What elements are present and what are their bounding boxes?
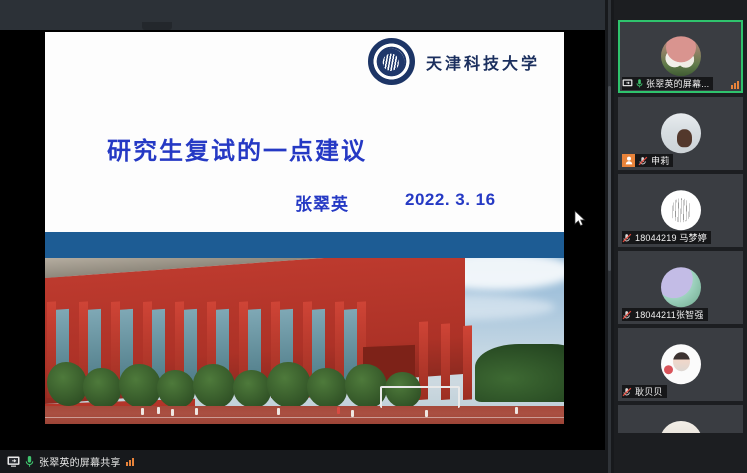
- avatar: [661, 267, 701, 307]
- microphone-muted-icon: [638, 156, 648, 166]
- university-name: 天津科技大学: [426, 50, 540, 74]
- screen-share-icon: [7, 456, 20, 467]
- mouse-cursor-icon: [574, 210, 586, 227]
- avatar: [661, 190, 701, 230]
- nameplate: 18044211张智强: [622, 308, 708, 321]
- participant-name: 耿贝贝: [635, 385, 663, 398]
- screen-share-viewport[interactable]: 天津科技大学 研究生复试的一点建议 张翠英 2022. 3. 16: [0, 0, 609, 473]
- nameplate: 18044219 马梦婷: [622, 231, 711, 244]
- microphone-muted-icon: [622, 387, 632, 397]
- avatar: [660, 421, 702, 433]
- microphone-muted-icon: [622, 310, 632, 320]
- nameplate: 耿贝贝: [622, 385, 667, 398]
- presentation-slide: 天津科技大学 研究生复试的一点建议 张翠英 2022. 3. 16: [45, 32, 564, 424]
- participants-scrollbar-thumb[interactable]: [608, 86, 611, 271]
- microphone-icon[interactable]: [25, 455, 34, 468]
- avatar: [661, 113, 701, 153]
- participant-tile-zhangcuiying[interactable]: 张翠英的屏幕...: [618, 20, 743, 93]
- chrome-notch: [142, 22, 172, 30]
- participant-name: 张翠英的屏幕...: [646, 77, 709, 90]
- tust-seal-icon: [368, 38, 415, 85]
- participant-name: 18044211张智强: [635, 308, 704, 321]
- share-status-label: 张翠英的屏幕共享: [39, 454, 121, 469]
- participant-tile-zhangzhiqiang[interactable]: 18044211张智强: [618, 251, 743, 324]
- slide-title: 研究生复试的一点建议: [107, 131, 367, 166]
- avatar: [661, 344, 701, 384]
- nameplate: 申莉: [622, 154, 673, 167]
- participant-name: 申莉: [651, 154, 669, 167]
- participant-tile-gengbeibei[interactable]: 耿贝贝: [618, 328, 743, 401]
- participant-strip[interactable]: 张翠英的屏幕... 申莉: [614, 0, 747, 473]
- share-status-bar[interactable]: 张翠英的屏幕共享: [0, 450, 609, 473]
- screen-share-icon: [622, 79, 633, 88]
- participant-tile-shenli[interactable]: 申莉: [618, 97, 743, 170]
- university-logo-row: 天津科技大学: [368, 38, 540, 85]
- conference-window: 天津科技大学 研究生复试的一点建议 张翠英 2022. 3. 16: [0, 0, 747, 473]
- host-badge-icon: [622, 154, 635, 167]
- microphone-icon: [636, 78, 643, 89]
- signal-bars-icon: [126, 458, 134, 466]
- slide-date: 2022. 3. 16: [405, 190, 496, 210]
- participant-tile-mamengting[interactable]: 18044219 马梦婷: [618, 174, 743, 247]
- slide-accent-band: [45, 232, 564, 258]
- participant-tile-partial[interactable]: [618, 405, 743, 433]
- slide-author: 张翠英: [295, 190, 349, 215]
- campus-photo: [45, 258, 564, 424]
- nameplate: 张翠英的屏幕...: [622, 77, 713, 90]
- participant-name: 18044219 马梦婷: [635, 231, 707, 244]
- avatar: [661, 36, 701, 76]
- shared-window-chrome: [0, 0, 609, 30]
- microphone-muted-icon: [622, 233, 632, 243]
- signal-bars-icon: [731, 81, 739, 89]
